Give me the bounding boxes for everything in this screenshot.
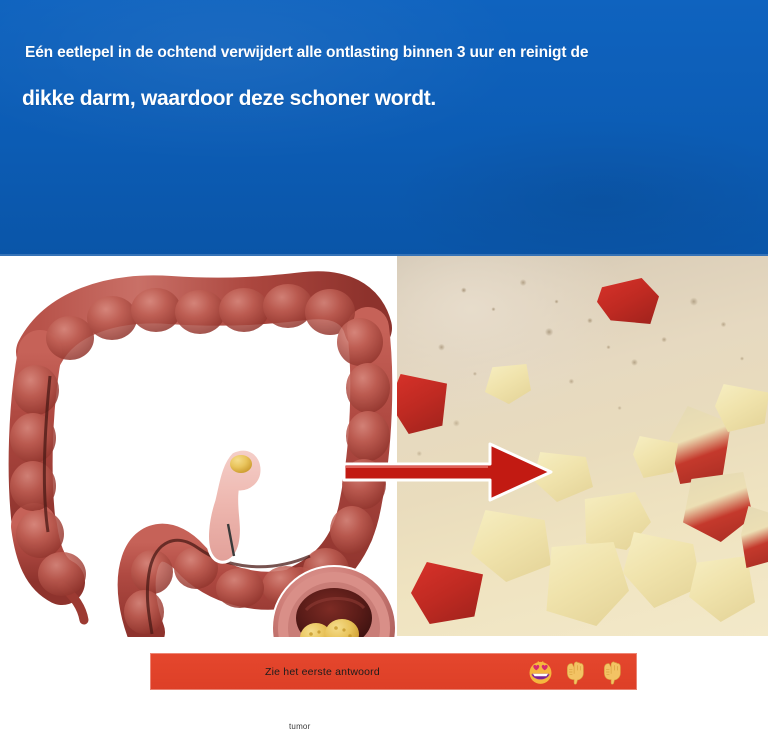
colon-svg: [0, 256, 400, 637]
apple-smoothie-photo: [397, 256, 768, 636]
polyp-callout-region: [208, 449, 262, 562]
backhand-index-pointing-down-icon-2: [601, 658, 628, 685]
header-banner: Eén eetlepel in de ochtend verwijdert al…: [0, 0, 768, 256]
smiling-face-with-hearts-icon: [527, 658, 554, 685]
cta-label: Zie het eerste antwoord: [265, 666, 380, 678]
headline-line-2: dikke darm, waardoor deze schoner wordt.: [22, 87, 436, 111]
headline-line-1: Eén eetlepel in de ochtend verwijdert al…: [25, 44, 588, 62]
media-band: tumor: [0, 256, 768, 637]
colon-anatomy-illustration: tumor: [0, 256, 400, 637]
backhand-index-pointing-down-icon-1: [564, 658, 591, 685]
tumor-label: tumor: [289, 722, 310, 731]
fruit-chunk: [397, 374, 447, 434]
cta-emoji-group: [527, 658, 628, 685]
cta-band: Zie het eerste antwoord: [0, 637, 768, 713]
see-first-answer-button[interactable]: Zie het eerste antwoord: [150, 653, 637, 690]
